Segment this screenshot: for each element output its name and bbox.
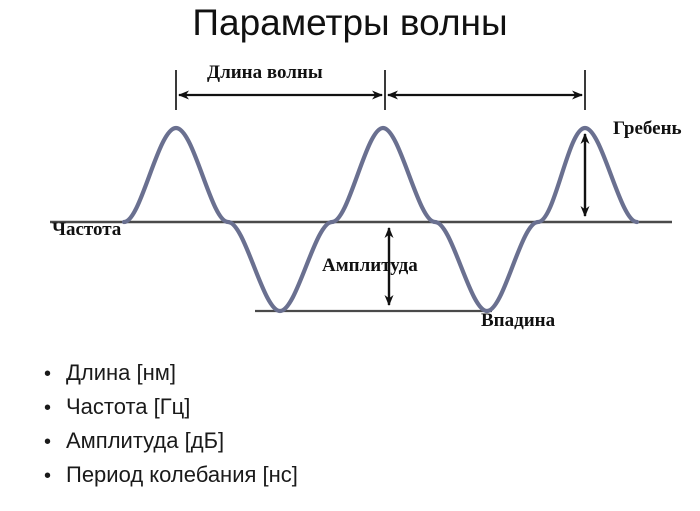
- list-item-label: Длина [нм]: [66, 360, 176, 386]
- wave-diagram: Длина волны Гребень Частота Амплитуда Вп…: [0, 48, 700, 353]
- wave-diagram-svg: [0, 48, 700, 353]
- bullet-marker-icon: •: [44, 398, 66, 418]
- label-crest: Гребень: [613, 118, 682, 140]
- label-trough: Впадина: [481, 310, 555, 332]
- bullet-marker-icon: •: [44, 466, 66, 486]
- list-item: • Амплитуда [дБ]: [0, 428, 700, 462]
- list-item: • Период колебания [нс]: [0, 462, 700, 496]
- list-item: • Частота [Гц]: [0, 394, 700, 428]
- list-item: • Длина [нм]: [0, 360, 700, 394]
- list-item-label: Частота [Гц]: [66, 394, 190, 420]
- label-wavelength: Длина волны: [207, 62, 323, 84]
- sine-wave-curve: [124, 128, 637, 311]
- bullet-marker-icon: •: [44, 432, 66, 452]
- wave-parameters-slide: Параметры волны: [0, 0, 700, 511]
- bullet-marker-icon: •: [44, 364, 66, 384]
- list-item-label: Амплитуда [дБ]: [66, 428, 224, 454]
- wave-parameter-list: • Длина [нм] • Частота [Гц] • Амплитуда …: [0, 360, 700, 496]
- page-title: Параметры волны: [0, 2, 700, 44]
- label-frequency: Частота: [52, 219, 121, 241]
- label-amplitude: Амплитуда: [322, 255, 418, 277]
- list-item-label: Период колебания [нс]: [66, 462, 298, 488]
